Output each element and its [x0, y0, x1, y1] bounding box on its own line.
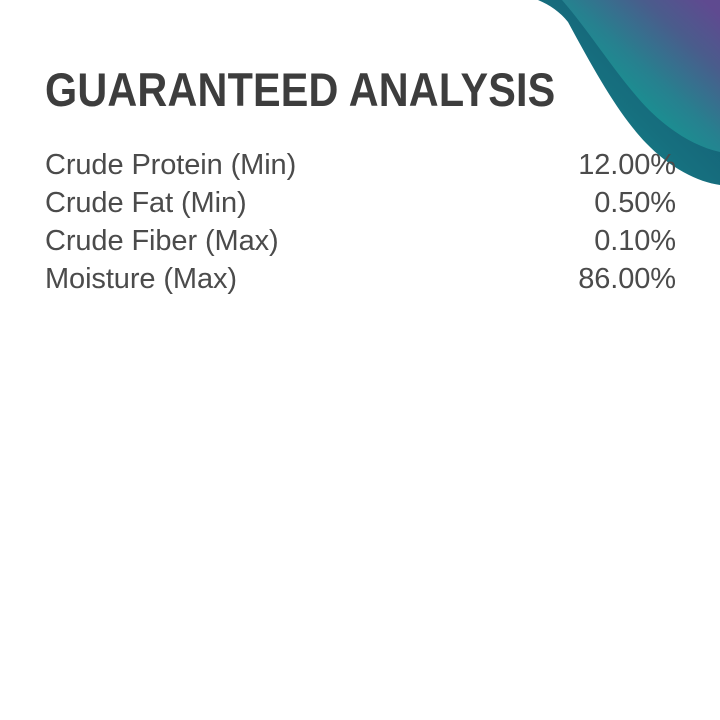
nutrient-label: Crude Protein (Min): [45, 146, 499, 184]
table-row: Crude Protein (Min) 12.00%: [45, 146, 676, 184]
nutrient-value: 12.00%: [499, 146, 676, 184]
table-row: Moisture (Max) 86.00%: [45, 260, 676, 298]
nutrient-label: Crude Fiber (Max): [45, 222, 499, 260]
guaranteed-analysis-table: Crude Protein (Min) 12.00% Crude Fat (Mi…: [45, 146, 676, 298]
nutrient-label: Crude Fat (Min): [45, 184, 499, 222]
nutrient-value: 86.00%: [499, 260, 676, 298]
nutrient-label: Moisture (Max): [45, 260, 499, 298]
guaranteed-analysis-panel: GUARANTEED ANALYSIS Crude Protein (Min) …: [0, 0, 720, 720]
nutrient-value: 0.50%: [499, 184, 676, 222]
page-title: GUARANTEED ANALYSIS: [45, 66, 555, 113]
table-row: Crude Fat (Min) 0.50%: [45, 184, 676, 222]
corner-front-wave: [562, 0, 720, 152]
nutrient-value: 0.10%: [499, 222, 676, 260]
table-row: Crude Fiber (Max) 0.10%: [45, 222, 676, 260]
